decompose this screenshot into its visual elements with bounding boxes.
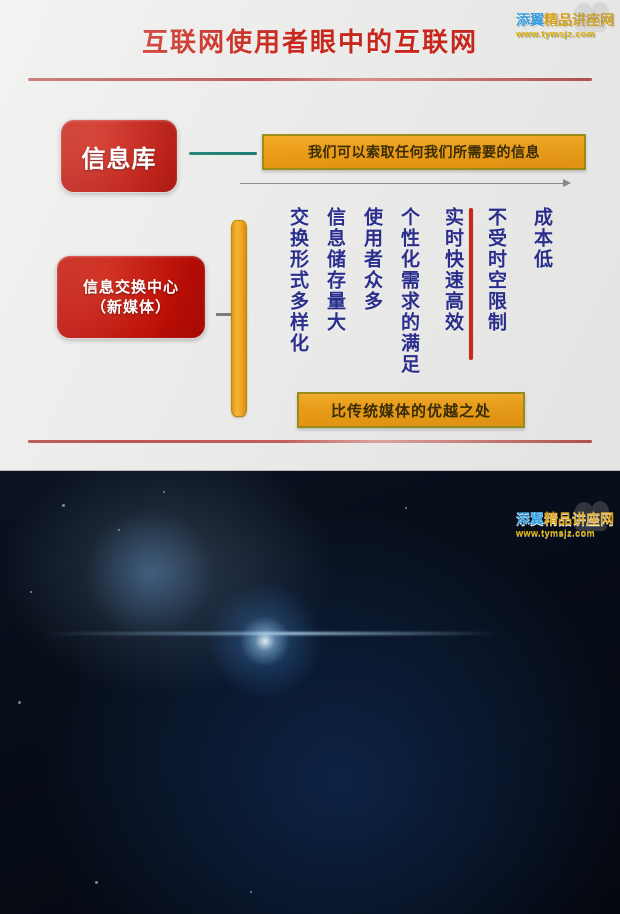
banner-advantages-over-traditional-media: 比传统媒体的优越之处 [297, 392, 525, 428]
star-dot [95, 881, 98, 884]
star-dot [118, 529, 120, 531]
vertical-point-1: 交换形式多样化 [288, 207, 307, 382]
vertical-point-6: 不受时空限制 [486, 207, 505, 357]
connector-teal-line [189, 152, 257, 155]
vertical-point-5: 实时快速高效 [443, 207, 462, 367]
bottom-divider [28, 440, 592, 443]
node-label: 信息库 [82, 139, 157, 174]
top-slide-panel: 互联网使用者眼中的互联网 添翼精品讲座网 www.tymsjz.com 信息库 … [0, 0, 620, 471]
orange-bracket-bar [231, 220, 247, 417]
starfield-background [0, 471, 620, 914]
banner-top-label: 我们可以索取任何我们所需要的信息 [308, 142, 540, 162]
vertical-point-3: 使用者众多 [362, 207, 381, 342]
star-dot [405, 507, 407, 509]
vertical-point-2: 信息储存量大 [325, 207, 344, 367]
lens-flare [205, 581, 325, 701]
page-title: 互联网使用者眼中的互联网 [0, 22, 620, 59]
bracket-stub [216, 313, 232, 316]
node-information-repository: 信息库 [60, 119, 178, 193]
lens-flare-streak [40, 632, 500, 635]
video-frame[interactable]: 品牌营销的互联网化 1. 互联网时代的新媒体优势 2. 营销视角中的互联网 3.… [0, 471, 620, 914]
vertical-point-4: 个性化需求的满足 [399, 207, 418, 397]
banner-information-access: 我们可以索取任何我们所需要的信息 [262, 134, 586, 170]
vertical-point-7: 成本低 [532, 207, 551, 287]
node-information-exchange-center: 信息交换中心 （新媒体） [56, 255, 206, 339]
emphasis-bar-red [469, 208, 473, 360]
star-dot [30, 591, 32, 593]
node2-label-line2: （新媒体） [91, 297, 171, 317]
star-dot [250, 891, 252, 893]
title-divider [28, 78, 592, 81]
star-dot [18, 701, 21, 704]
star-dot [62, 504, 65, 507]
timeline-arrow [240, 183, 570, 184]
star-dot [163, 491, 165, 493]
banner-bottom-label: 比传统媒体的优越之处 [331, 400, 491, 421]
node2-label-line1: 信息交换中心 [83, 277, 179, 297]
